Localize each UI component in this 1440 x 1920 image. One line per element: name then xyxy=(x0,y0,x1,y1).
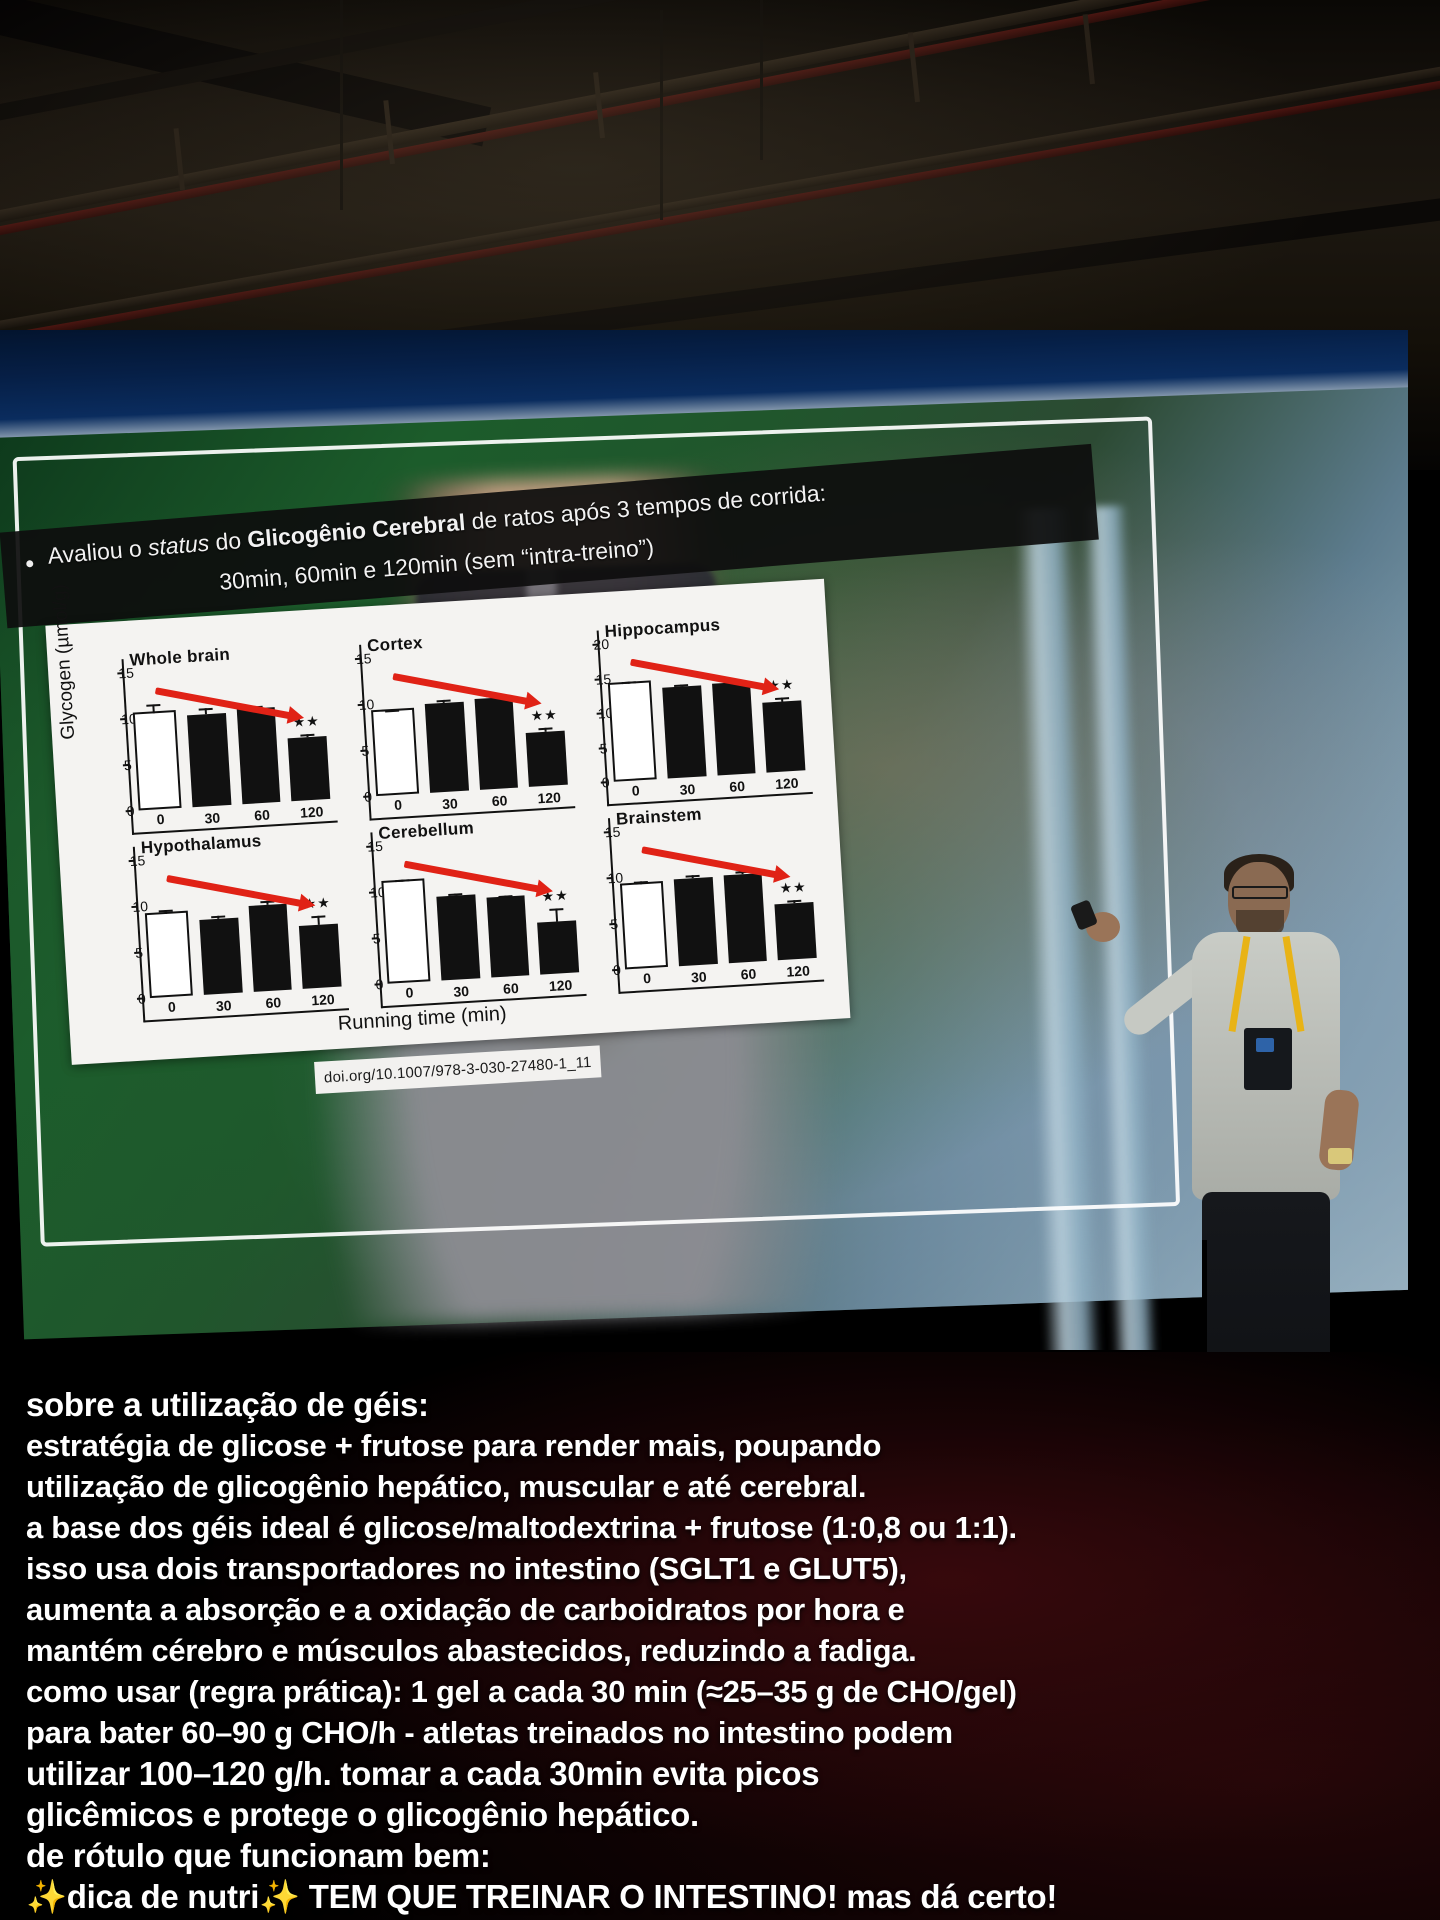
chart-y-tick-mark xyxy=(360,750,366,752)
chart-bar: ★★120 xyxy=(526,730,568,786)
chart-y-tick-mark xyxy=(358,704,364,706)
chart-y-tick-mark xyxy=(612,969,618,971)
chart-bar: ★★120 xyxy=(763,700,806,773)
chart-bar: 0 xyxy=(371,708,419,796)
caption-line: utilizar 100–120 g/h. tomar a cada 30min… xyxy=(26,1753,1414,1794)
caption-line: a base dos géis ideal é glicose/maltodex… xyxy=(26,1507,1414,1548)
chart-error-cap xyxy=(448,894,462,897)
chart-error-cap xyxy=(622,681,636,684)
glasses-icon xyxy=(1232,886,1288,899)
chart-panel: Brainstem05101503060★★120 xyxy=(586,802,824,995)
chart-error-cap xyxy=(385,709,399,712)
chart-bar: ★★120 xyxy=(775,902,817,960)
caption-line: utilização de glicogênio hepático, muscu… xyxy=(26,1466,1414,1507)
chart-panel: Cortex05101503060★★120 xyxy=(337,628,575,821)
chart-bar: 60 xyxy=(723,873,767,963)
caption-line: isso usa dois transportadores no intesti… xyxy=(26,1548,1414,1589)
bullet-marker-icon xyxy=(26,560,34,568)
chart-error-cap xyxy=(147,704,161,707)
chart-panel-title: Cortex xyxy=(367,633,424,656)
sparkle-icon: ✨ xyxy=(26,1878,67,1915)
chart-bars: 03060★★120 xyxy=(617,820,817,969)
chart-bar: ★★120 xyxy=(288,736,330,801)
chart-bars: 03060★★120 xyxy=(379,834,579,983)
chart-x-tick-label: 60 xyxy=(503,980,520,997)
chart-y-tick-mark xyxy=(120,718,126,720)
caption-line: glicêmicos e protege o glicogênio hepáti… xyxy=(26,1794,1414,1835)
chart-bar: 30 xyxy=(673,877,717,967)
chart-error-cap xyxy=(300,734,314,737)
chart-y-tick-mark xyxy=(137,998,143,1000)
caption-nutri-tip-label: dica de nutri xyxy=(67,1878,259,1915)
chart-x-tick-label: 30 xyxy=(679,781,696,798)
chart-y-tick-mark xyxy=(131,906,137,908)
chart-x-tick-label: 120 xyxy=(786,962,810,979)
chart-x-tick-label: 0 xyxy=(156,811,165,827)
bullet-txt-2: do xyxy=(208,527,248,556)
chart-x-tick-label: 0 xyxy=(394,797,403,813)
chart-x-tick-label: 60 xyxy=(254,807,271,824)
chart-x-tick-label: 0 xyxy=(168,999,177,1015)
bullet-txt-1: Avaliou o xyxy=(47,535,149,569)
chart-y-tick-mark xyxy=(595,678,601,680)
speaker-badge xyxy=(1244,1028,1292,1090)
sparkle-icon: ✨ xyxy=(259,1878,300,1915)
chart-bar: 60 xyxy=(474,697,518,790)
chart-error-cap xyxy=(549,908,563,911)
chart-y-tick-mark xyxy=(355,658,361,660)
chart-bar: 0 xyxy=(133,710,182,811)
chart-bars: 03060★★120 xyxy=(605,633,805,782)
chart-bar: 30 xyxy=(199,917,242,995)
chart-bar: 60 xyxy=(486,895,529,977)
chart-panel: Hippocampus0510152003060★★120 xyxy=(574,614,812,807)
chart-error-cap xyxy=(498,895,512,898)
chart-x-tick-label: 120 xyxy=(300,803,324,820)
chart-bar: ★★120 xyxy=(537,920,579,975)
chart-x-tick-label: 0 xyxy=(405,984,414,1000)
chart-bar: 30 xyxy=(662,685,706,778)
chart-bar: 30 xyxy=(436,895,480,981)
chart-x-tick-label: 30 xyxy=(442,795,459,812)
badge-logo-icon xyxy=(1256,1038,1274,1052)
chart-y-tick-mark xyxy=(372,937,378,939)
caption-line: aumenta a absorção e a oxidação de carbo… xyxy=(26,1589,1414,1630)
wristwatch-icon xyxy=(1328,1148,1352,1164)
chart-error-cap xyxy=(787,899,801,902)
caption-line: de rótulo que funcionam bem: xyxy=(26,1835,1414,1876)
chart-y-tick-mark xyxy=(374,983,380,985)
caption-line: para bater 60–90 g CHO/h - atletas trein… xyxy=(26,1712,1414,1753)
chart-error-cap xyxy=(437,699,451,702)
chart-panel: Cerebellum05101503060★★120 xyxy=(348,816,586,1009)
chart-bar: 0 xyxy=(145,911,193,998)
caption-line: como usar (regra prática): 1 gel a cada … xyxy=(26,1671,1414,1712)
chart-bar: 30 xyxy=(187,713,231,807)
caption-line: sobre a utilização de géis: xyxy=(26,1384,1414,1425)
chart-x-tick-label: 30 xyxy=(204,810,221,827)
chart-y-tick-mark xyxy=(134,952,140,954)
chart-y-tick-mark xyxy=(609,923,615,925)
chart-x-tick-label: 30 xyxy=(691,969,708,986)
caption-final-text: TEM QUE TREINAR O INTESTINO! mas dá cert… xyxy=(300,1878,1057,1915)
chart-y-tick-mark xyxy=(129,860,135,862)
chart-error-cap xyxy=(538,727,552,730)
ceiling-hanger-3 xyxy=(760,0,763,160)
chart-bar: ★★120 xyxy=(299,923,341,989)
chart-bar: 30 xyxy=(424,701,468,792)
chart-y-tick-mark xyxy=(369,891,375,893)
chart-y-tick-mark xyxy=(599,747,605,749)
chart-bar: 60 xyxy=(236,707,280,804)
slide-figure-card: Glycogen (µmol/g) Running time (min) Who… xyxy=(45,579,850,1065)
chart-error-cap xyxy=(211,915,225,918)
chart-x-tick-label: 120 xyxy=(548,977,572,994)
bullet-txt-bold: Glicogênio Cerebral xyxy=(246,509,466,553)
chart-panel: Hypothalamus05101503060★★120 xyxy=(111,830,349,1023)
chart-y-tick-mark xyxy=(363,796,369,798)
chart-panel-title: Brainstem xyxy=(615,805,702,830)
chart-error-cap xyxy=(199,708,213,711)
ceiling-hanger-2 xyxy=(660,10,663,220)
chart-y-tick-mark xyxy=(601,781,607,783)
ceiling-hanger-1 xyxy=(340,0,343,210)
chart-x-tick-label: 120 xyxy=(537,789,561,806)
chart-bar: 0 xyxy=(608,681,657,782)
chart-x-tick-label: 120 xyxy=(311,991,335,1008)
caption-line: mantém cérebro e músculos abastecidos, r… xyxy=(26,1630,1414,1671)
chart-x-tick-label: 0 xyxy=(643,970,652,986)
chart-bars: 03060★★120 xyxy=(130,661,330,810)
chart-y-tick-mark xyxy=(117,672,123,674)
chart-y-tick-mark xyxy=(607,877,613,879)
chart-bars: 03060★★120 xyxy=(368,647,568,796)
chart-bar: 60 xyxy=(248,903,292,992)
chart-error-cap xyxy=(159,910,173,913)
chart-error-cap xyxy=(686,875,700,878)
chart-y-tick-mark xyxy=(592,643,598,645)
chart-bar: 60 xyxy=(712,681,756,776)
chart-bar: 0 xyxy=(381,878,430,983)
chart-bar: 0 xyxy=(620,881,668,970)
chart-y-tick-mark xyxy=(126,810,132,812)
chart-x-tick-label: 0 xyxy=(631,782,640,798)
caption-line: estratégia de glicose + frutose para ren… xyxy=(26,1425,1414,1466)
chart-x-tick-label: 60 xyxy=(491,792,508,809)
chart-y-tick-mark xyxy=(366,845,372,847)
chart-x-tick-label: 60 xyxy=(740,966,757,983)
chart-x-tick-label: 60 xyxy=(729,778,746,795)
chart-panel: Whole brain05101503060★★120 xyxy=(99,643,337,836)
chart-y-tick-mark xyxy=(604,831,610,833)
chart-y-tick-mark xyxy=(123,764,129,766)
chart-x-tick-label: 30 xyxy=(453,983,470,1000)
chart-error-cap xyxy=(311,916,325,919)
chart-error-cap xyxy=(634,881,648,884)
caption-final-line: ✨dica de nutri✨ TEM QUE TREINAR O INTEST… xyxy=(26,1876,1414,1917)
chart-x-tick-label: 60 xyxy=(265,994,282,1011)
caption-text-block: sobre a utilização de géis:estratégia de… xyxy=(0,1352,1440,1920)
chart-y-tick-mark xyxy=(597,712,603,714)
chart-bars: 03060★★120 xyxy=(142,849,342,998)
screenshot-root: Avaliou o status do Glicogênio Cerebral … xyxy=(0,0,1440,1920)
chart-x-tick-label: 30 xyxy=(215,997,232,1014)
chart-error-cap xyxy=(396,879,410,882)
chart-x-tick-label: 120 xyxy=(775,775,799,792)
chart-error-cap xyxy=(674,684,688,687)
bullet-txt-status: status xyxy=(147,530,210,561)
truss-post-5 xyxy=(1083,14,1095,84)
